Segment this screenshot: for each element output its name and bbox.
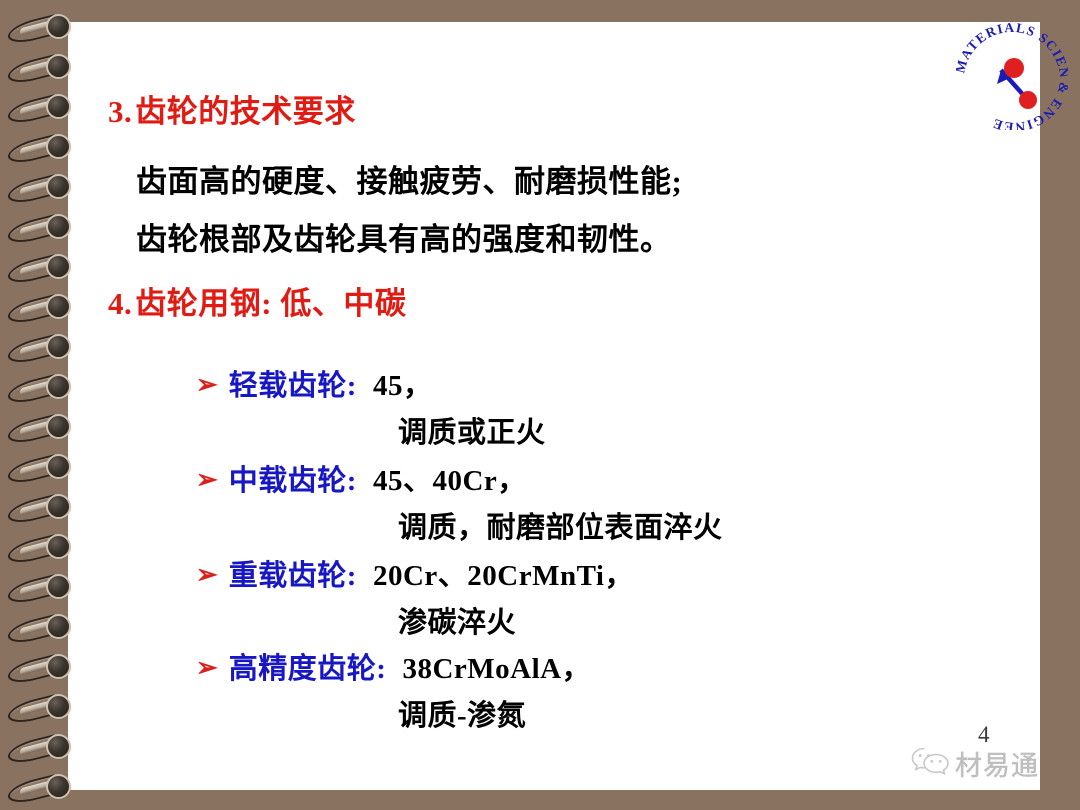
heading-4-number: 4. [108,286,132,321]
bullet-label-high-precision: 高精度齿轮: [229,645,387,687]
bullet-item-heavy-load: ➢ 重载齿轮: 20Cr、20CrMnTi， [196,552,634,594]
arrow-bullet-icon: ➢ [196,655,218,681]
heading-3-number: 3. [108,94,132,129]
spiral-ring [8,14,70,44]
bullet-label-medium-load: 中载齿轮: [229,457,357,499]
arrow-bullet-icon: ➢ [196,467,218,493]
body-line-1: 齿面高的硬度、接触疲劳、耐磨损性能; [136,156,682,201]
heading-3-text: 齿轮的技术要求 [135,94,356,129]
spiral-ring [8,254,70,284]
spiral-ring [8,534,70,564]
heading-4: 4.齿轮用钢: 低、中碳 [108,278,406,323]
slide-content: 3.齿轮的技术要求 齿面高的硬度、接触疲劳、耐磨损性能; 齿轮根部及齿轮具有高的… [68,22,1040,790]
slide-canvas: 3.齿轮的技术要求 齿面高的硬度、接触疲劳、耐磨损性能; 齿轮根部及齿轮具有高的… [0,0,1080,810]
spiral-binding [0,0,70,810]
spiral-ring [8,94,70,124]
bullet-value-medium-load: 45、40Cr， [373,457,527,499]
heading-3: 3.齿轮的技术要求 [108,86,356,131]
spiral-ring [8,414,70,444]
wechat-icon [910,745,950,782]
spiral-ring [8,54,70,84]
spiral-ring [8,694,70,724]
spiral-ring [8,774,70,804]
spiral-ring [8,574,70,604]
spiral-ring [8,294,70,324]
bullet-subline-high-precision: 调质-渗氮 [398,692,526,734]
spiral-ring [8,454,70,484]
spiral-ring [8,654,70,684]
bullet-subline-light-load: 调质或正火 [398,409,546,451]
bullet-item-light-load: ➢ 轻载齿轮: 45， [196,362,432,404]
heading-4-text: 齿轮用钢: 低、中碳 [135,286,406,321]
bullet-label-light-load: 轻载齿轮: [229,362,357,404]
bullet-value-heavy-load: 20Cr、20CrMnTi， [373,552,634,594]
spiral-ring [8,334,70,364]
body-line-2: 齿轮根部及齿轮具有高的强度和韧性。 [136,214,672,259]
bullet-subline-medium-load: 调质，耐磨部位表面淬火 [398,504,723,546]
bullet-item-high-precision: ➢ 高精度齿轮: 38CrMoAlA， [196,645,591,687]
spiral-ring [8,374,70,404]
bullet-value-light-load: 45， [373,362,433,404]
watermark: 材易通 [910,740,1040,786]
spiral-ring [8,214,70,244]
spiral-ring [8,734,70,764]
spiral-ring [8,134,70,164]
arrow-bullet-icon: ➢ [196,562,218,588]
spiral-ring [8,614,70,644]
arrow-bullet-icon: ➢ [196,372,218,398]
watermark-text: 材易通 [955,744,1039,783]
materials-science-engineering-logo: MATERIALS SCIENCE & ENGINEERING [956,18,1068,130]
spiral-ring [8,494,70,524]
bullet-subline-heavy-load: 渗碳淬火 [398,599,516,641]
notebook-page: 3.齿轮的技术要求 齿面高的硬度、接触疲劳、耐磨损性能; 齿轮根部及齿轮具有高的… [68,22,1040,790]
spiral-ring [8,174,70,204]
bullet-item-medium-load: ➢ 中载齿轮: 45、40Cr， [196,457,527,499]
bullet-value-high-precision: 38CrMoAlA， [402,645,591,687]
bullet-label-heavy-load: 重载齿轮: [229,552,357,594]
